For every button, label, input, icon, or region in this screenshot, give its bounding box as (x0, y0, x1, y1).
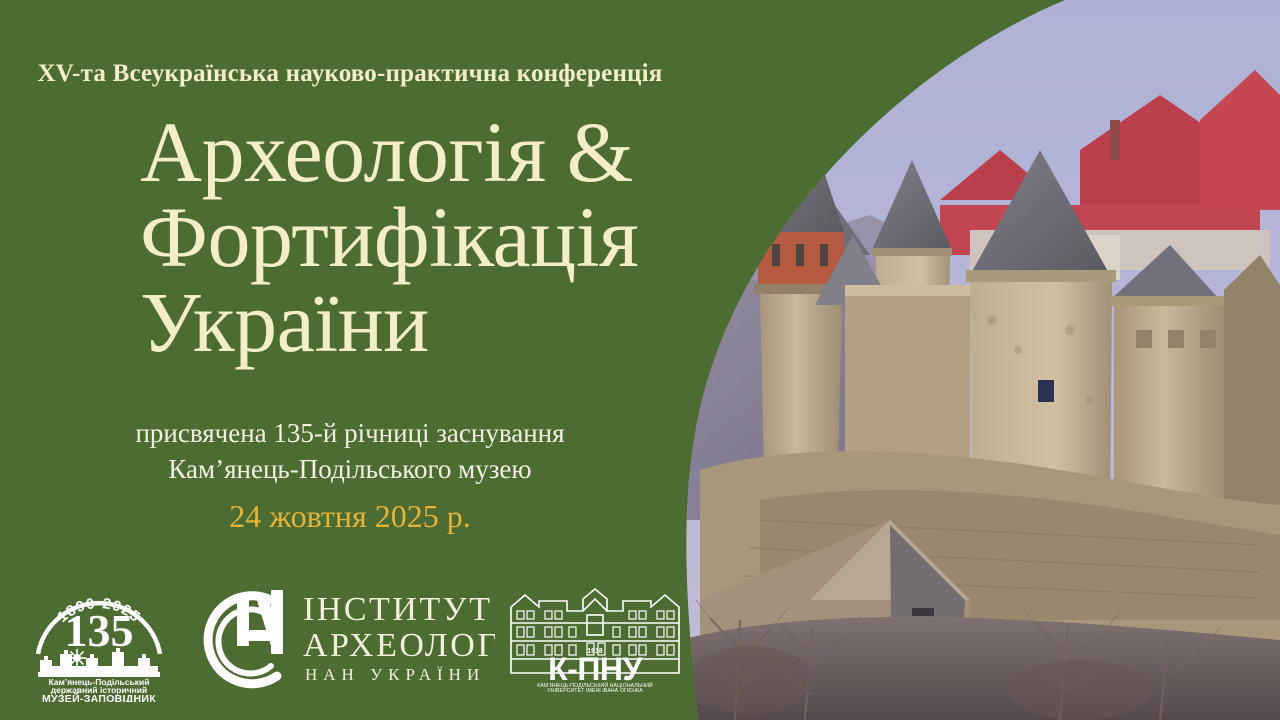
institute-logo[interactable]: ІНСТИТУТ АРХЕОЛОГІЇ НАН УКРАЇНИ (175, 576, 495, 696)
poster-dedication: присвячена 135-й річниці заснування Кам’… (0, 416, 700, 487)
institute-line-1: ІНСТИТУТ (303, 591, 493, 628)
museum-caption-line-3: МУЗЕЙ-ЗАПОВІДНИК (42, 692, 156, 702)
kpnu-logo-mark: 1918 К-ПНУ КАМ’ЯНЕЦЬ-ПОДІЛЬСЬКИЙ НАЦІОНА… (505, 577, 685, 692)
event-date: 24 жовтня 2025 р. (0, 498, 700, 535)
kpnu-logo[interactable]: 1918 К-ПНУ КАМ’ЯНЕЦЬ-ПОДІЛЬСЬКИЙ НАЦІОНА… (505, 577, 685, 692)
title-line-3: України (140, 280, 760, 365)
poster-text-column: XV-та Всеукраїнська науково-практична ко… (0, 0, 700, 720)
logo-strip: 1890-2025 135 (0, 562, 700, 712)
conference-poster: XV-та Всеукраїнська науково-практична ко… (0, 0, 1280, 720)
kpnu-abbreviation: К-ПНУ (548, 651, 643, 687)
poster-title: Археологія & Фортифікація України (140, 110, 760, 365)
title-line-1: Археологія & (140, 110, 760, 195)
title-line-2: Фортифікація (140, 195, 760, 280)
conference-kicker: XV-та Всеукраїнська науково-практична ко… (0, 60, 700, 88)
dedication-line-2: Кам’янець-Подільського музею (0, 452, 700, 488)
institute-logo-mark: ІНСТИТУТ АРХЕОЛОГІЇ НАН УКРАЇНИ (175, 576, 495, 696)
dedication-line-1: присвячена 135-й річниці заснування (0, 416, 700, 452)
museum-logo[interactable]: 1890-2025 135 (24, 562, 174, 702)
museum-anniversary-number: 135 (65, 605, 134, 656)
institute-line-2: АРХЕОЛОГІЇ (303, 627, 495, 664)
kpnu-caption-line-2: УНІВЕРСИТЕТ ІМЕНІ ІВАНА ОГІЄНКА (547, 688, 643, 692)
museum-logo-mark: 1890-2025 135 (24, 562, 174, 702)
institute-line-3: НАН УКРАЇНИ (305, 665, 485, 684)
trowel-icon (237, 590, 283, 654)
